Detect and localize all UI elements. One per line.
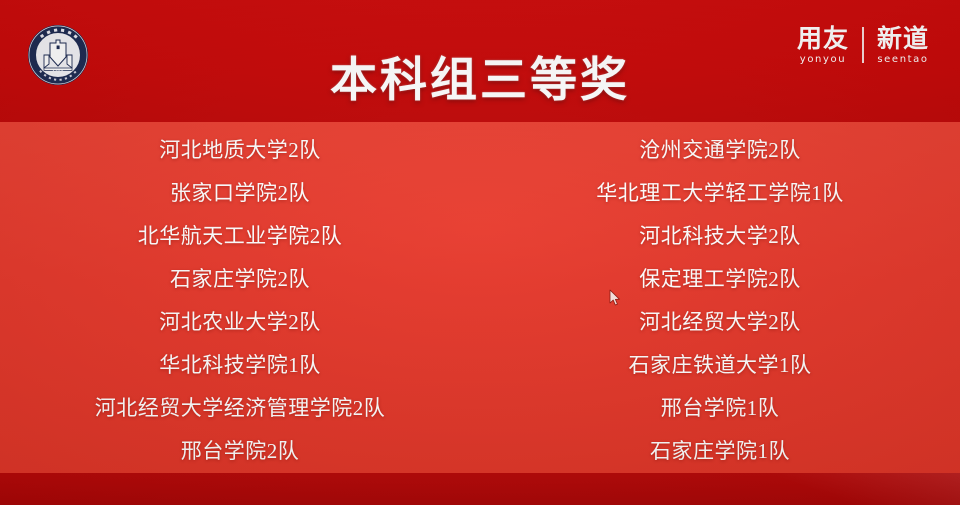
winners-left-column: 河北地质大学2队 张家口学院2队 北华航天工业学院2队 石家庄学院2队 河北农业…: [0, 128, 480, 473]
brand-yonyou-cn: 用友: [797, 25, 849, 53]
list-item: 北华航天工业学院2队: [0, 214, 480, 257]
sponsor-brand-lockup: 用友 yonyou 新道 seentao: [788, 22, 938, 68]
winners-right-column: 沧州交通学院2队 华北理工大学轻工学院1队 河北科技大学2队 保定理工学院2队 …: [480, 128, 960, 473]
brand-seentao-en: seentao: [877, 54, 928, 66]
list-item: 河北经贸大学2队: [480, 301, 960, 344]
winner-name: 石家庄铁道大学1队: [629, 352, 812, 378]
winner-name: 河北经贸大学经济管理学院2队: [95, 395, 386, 421]
list-item: 石家庄铁道大学1队: [480, 344, 960, 387]
winner-name: 河北经贸大学2队: [639, 309, 801, 335]
winner-name: 北华航天工业学院2队: [138, 223, 343, 249]
list-item: 河北地质大学2队: [0, 128, 480, 171]
list-item: 邢台学院1队: [480, 387, 960, 430]
winner-name: 华北理工大学轻工学院1队: [596, 180, 844, 206]
list-item: 保定理工学院2队: [480, 257, 960, 300]
winner-name: 邢台学院2队: [181, 438, 300, 464]
winner-name: 保定理工学院2队: [639, 266, 801, 292]
list-item: 河北农业大学2队: [0, 301, 480, 344]
list-item: 河北科技大学2队: [480, 214, 960, 257]
brand-yonyou-en: yonyou: [800, 54, 846, 66]
brand-seentao: 新道 seentao: [868, 25, 938, 66]
list-item: 张家口学院2队: [0, 171, 480, 214]
winner-name: 张家口学院2队: [170, 180, 310, 206]
winner-name: 邢台学院1队: [661, 395, 780, 421]
list-item: 华北科技学院1队: [0, 344, 480, 387]
brand-seentao-cn: 新道: [877, 25, 929, 53]
brand-yonyou: 用友 yonyou: [788, 25, 858, 66]
list-item: 石家庄学院2队: [0, 257, 480, 300]
list-item: 石家庄学院1队: [480, 430, 960, 473]
brand-divider: [862, 27, 864, 63]
winners-list: 河北地质大学2队 张家口学院2队 北华航天工业学院2队 石家庄学院2队 河北农业…: [0, 128, 960, 473]
winner-name: 华北科技学院1队: [159, 352, 321, 378]
list-item: 华北理工大学轻工学院1队: [480, 171, 960, 214]
winner-name: 石家庄学院1队: [650, 438, 790, 464]
list-item: 河北经贸大学经济管理学院2队: [0, 387, 480, 430]
winner-name: 河北科技大学2队: [639, 223, 801, 249]
winner-name: 沧州交通学院2队: [639, 137, 801, 163]
list-item: 沧州交通学院2队: [480, 128, 960, 171]
footer-band: [0, 473, 960, 505]
winner-name: 石家庄学院2队: [170, 266, 310, 292]
winner-name: 河北农业大学2队: [159, 309, 321, 335]
list-item: 邢台学院2队: [0, 430, 480, 473]
slide-canvas: 1953 本科组三等奖 用友 yonyou 新道 seentao 河北地质大学2…: [0, 0, 960, 505]
winner-name: 河北地质大学2队: [159, 137, 321, 163]
